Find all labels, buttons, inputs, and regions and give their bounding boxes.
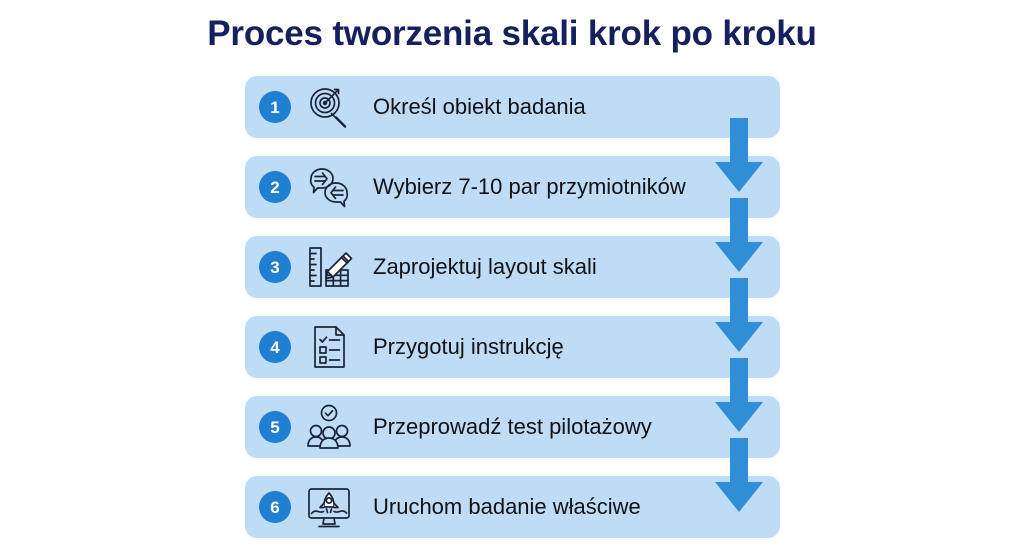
checklist-document-icon xyxy=(303,321,355,373)
target-magnifier-icon xyxy=(303,81,355,133)
arrow-down-icon xyxy=(711,278,767,356)
page-title: Proces tworzenia skali krok po kroku xyxy=(0,14,1024,54)
step-row: 6 Uruchom badanie właściwe xyxy=(245,476,780,538)
step-number-badge: 3 xyxy=(259,251,291,283)
step-label: Określ obiekt badania xyxy=(373,94,766,120)
step-number-badge: 6 xyxy=(259,491,291,523)
step-row: 5 Przeprowadź test pilotażowy xyxy=(245,396,780,458)
rocket-monitor-icon xyxy=(303,481,355,533)
infographic-page: Proces tworzenia skali krok po kroku 1 O… xyxy=(0,0,1024,559)
process-flow: 1 Określ obiekt badania 2 xyxy=(245,76,780,541)
step-row: 4 Przygotuj instrukcję xyxy=(245,316,780,378)
ruler-pencil-grid-icon xyxy=(303,241,355,293)
step-row: 2 Wybierz 7-10 par przymiotników xyxy=(245,156,780,218)
step-row: 1 Określ obiekt badania xyxy=(245,76,780,138)
step-number-badge: 4 xyxy=(259,331,291,363)
step-row: 3 Zaprojektuj layout skali xyxy=(245,236,780,298)
people-check-icon xyxy=(303,401,355,453)
step-number-badge: 5 xyxy=(259,411,291,443)
step-number-badge: 2 xyxy=(259,171,291,203)
step-label: Uruchom badanie właściwe xyxy=(373,494,766,520)
arrow-down-icon xyxy=(711,118,767,196)
step-label: Zaprojektuj layout skali xyxy=(373,254,766,280)
step-number-badge: 1 xyxy=(259,91,291,123)
step-label: Wybierz 7-10 par przymiotników xyxy=(373,174,766,200)
arrow-down-icon xyxy=(711,438,767,516)
step-label: Przygotuj instrukcję xyxy=(373,334,766,360)
arrow-down-icon xyxy=(711,358,767,436)
speech-bubbles-exchange-icon xyxy=(303,161,355,213)
arrow-down-icon xyxy=(711,198,767,276)
step-label: Przeprowadź test pilotażowy xyxy=(373,414,766,440)
